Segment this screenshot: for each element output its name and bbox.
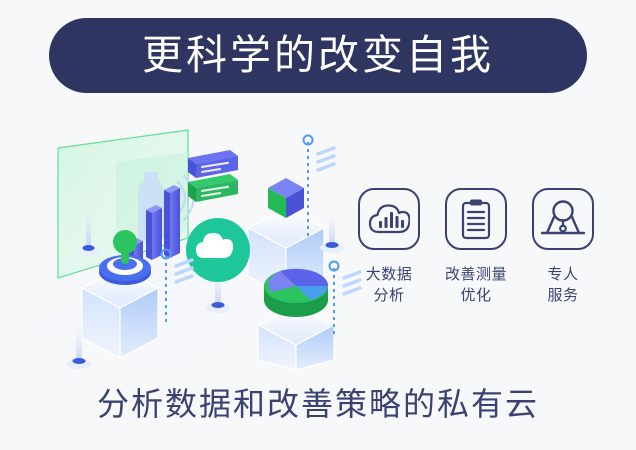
header-banner: 更科学的改变自我 xyxy=(49,18,587,93)
isometric-illustration xyxy=(40,120,370,370)
cube-3d xyxy=(268,178,304,218)
feature-label-line1: 专人 xyxy=(547,264,578,285)
feature-item-dedicated-service[interactable]: 专人 服务 xyxy=(526,188,600,306)
feature-label-line2: 分析 xyxy=(366,285,413,306)
clipboard-icon xyxy=(445,188,507,250)
tag-card-blue xyxy=(188,150,238,178)
support-agent-icon xyxy=(532,188,594,250)
feature-label: 大数据 分析 xyxy=(366,264,413,306)
tag-card-green xyxy=(188,174,238,202)
cloud-bar-chart-icon xyxy=(358,188,420,250)
feature-item-measurement-optimization[interactable]: 改善测量 优化 xyxy=(439,188,513,306)
feature-label: 专人 服务 xyxy=(547,264,578,306)
pie-chart-3d xyxy=(264,269,328,317)
poster-canvas: 更科学的改变自我 xyxy=(0,0,636,450)
feature-label-line1: 改善测量 xyxy=(445,264,507,285)
feature-item-big-data-analysis[interactable]: 大数据 分析 xyxy=(352,188,426,306)
feature-label-line2: 服务 xyxy=(547,285,578,306)
feature-label: 改善测量 优化 xyxy=(445,264,507,306)
feature-label-line2: 优化 xyxy=(445,285,507,306)
feature-label-line1: 大数据 xyxy=(366,264,413,285)
page-title: 更科学的改变自我 xyxy=(142,35,494,76)
feature-list: 大数据 分析 改善测量 优化 xyxy=(352,188,600,333)
tagline: 分析数据和改善策略的私有云 xyxy=(0,385,636,423)
